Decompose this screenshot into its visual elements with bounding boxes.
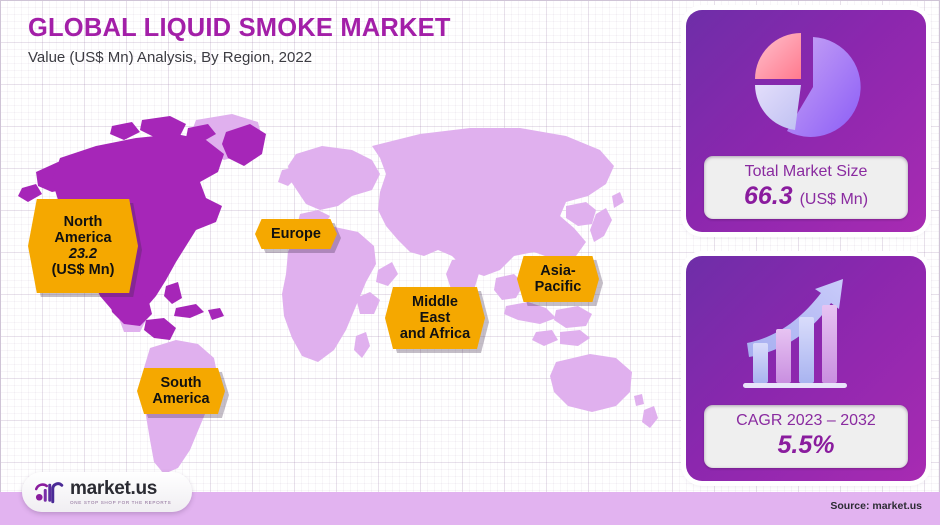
source-attribution: Source: market.us <box>830 500 922 512</box>
card-value: 66.3 (US$ Mn) <box>708 181 904 211</box>
card-label: CAGR 2023 – 2032 <box>708 411 904 430</box>
region-value: 23.2 <box>69 246 97 262</box>
page-title: GLOBAL LIQUID SMOKE MARKET <box>28 14 451 43</box>
region-unit: (US$ Mn) <box>52 262 115 278</box>
page-subtitle: Value (US$ Mn) Analysis, By Region, 2022 <box>28 49 451 66</box>
growth-bar-chart-icon-wrap <box>686 256 926 405</box>
card-total-market-size: Total Market Size 66.3 (US$ Mn) <box>686 10 926 232</box>
logo-tagline: ONE STOP SHOP FOR THE REPORTS <box>70 500 171 505</box>
region-label-line-1: South <box>160 375 201 391</box>
region-badge-europe[interactable]: Europe <box>255 219 337 249</box>
brand-logo[interactable]: market.us ONE STOP SHOP FOR THE REPORTS <box>22 472 192 512</box>
region-label-line-2: East <box>420 310 451 326</box>
region-label-line-2: America <box>152 391 209 407</box>
pie-chart-icon <box>743 23 869 143</box>
region-badge-south-america[interactable]: South America <box>137 368 225 414</box>
region-label-line-1: Asia- <box>540 263 575 279</box>
card-value-unit: (US$ Mn) <box>800 191 868 208</box>
region-label-line-1: Middle <box>412 294 458 310</box>
region-label-line-2: America <box>54 230 111 246</box>
card-label: Total Market Size <box>708 162 904 181</box>
total-market-size-value-box: Total Market Size 66.3 (US$ Mn) <box>704 156 908 219</box>
pie-chart-icon-wrap <box>686 10 926 156</box>
region-label-line-2: Pacific <box>535 279 582 295</box>
card-value-number: 5.5% <box>778 431 835 459</box>
region-label-line-3: and Africa <box>400 326 470 342</box>
region-badge-asia-pacific[interactable]: Asia- Pacific <box>517 256 599 302</box>
card-cagr: CAGR 2023 – 2032 5.5% <box>686 256 926 481</box>
market-us-logo-icon <box>34 480 64 504</box>
region-label-line-1: North <box>64 214 103 230</box>
card-value-number: 66.3 <box>744 182 793 210</box>
region-badge-north-america[interactable]: North America 23.2 (US$ Mn) <box>28 199 138 293</box>
header: GLOBAL LIQUID SMOKE MARKET Value (US$ Mn… <box>28 14 451 66</box>
infographic-canvas: GLOBAL LIQUID SMOKE MARKET Value (US$ Mn… <box>0 0 940 525</box>
logo-text-group: market.us ONE STOP SHOP FOR THE REPORTS <box>70 479 171 505</box>
card-value: 5.5% <box>708 430 904 460</box>
growth-bar-chart-icon <box>731 267 881 393</box>
logo-name: market.us <box>70 479 171 498</box>
cagr-value-box: CAGR 2023 – 2032 5.5% <box>704 405 908 468</box>
region-label-line-1: Europe <box>271 226 321 242</box>
region-badge-middle-east-and-africa[interactable]: Middle East and Africa <box>385 287 485 349</box>
